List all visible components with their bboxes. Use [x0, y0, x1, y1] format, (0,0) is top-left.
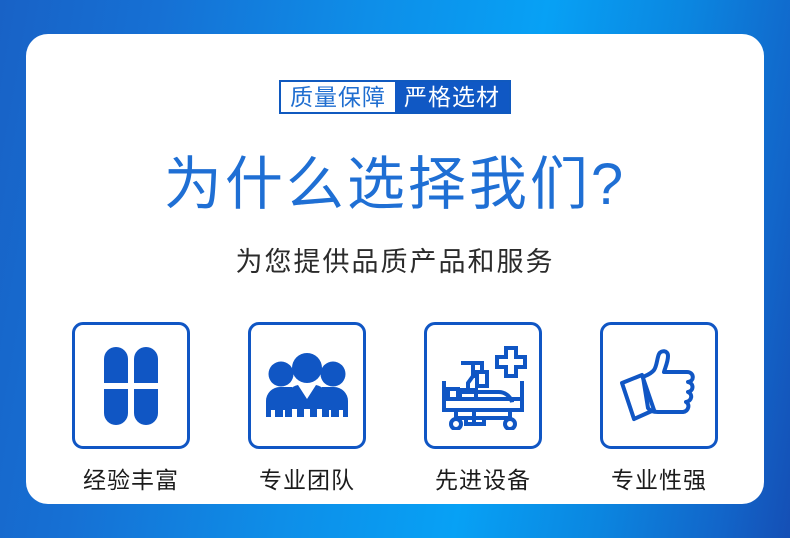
feature-item: 先进设备 — [418, 322, 548, 492]
thumbs-up-icon — [615, 344, 703, 428]
hospital-bed-with-iv-and-cross-icon — [436, 342, 530, 430]
badge-row: 质量保障 严格选材 — [26, 80, 764, 114]
badge-left-label: 质量保障 — [281, 82, 395, 112]
quality-badge: 质量保障 严格选材 — [279, 80, 511, 114]
feature-item: 专业性强 — [594, 322, 724, 492]
promo-banner: 质量保障 严格选材 为什么选择我们? 为您提供品质产品和服务 — [0, 0, 790, 538]
feature-item: 经验丰富 — [66, 322, 196, 492]
feature-list: 经验丰富 — [66, 322, 724, 492]
feature-label: 专业性强 — [611, 469, 707, 492]
feature-item: 专业团队 — [242, 322, 372, 492]
feature-icon-box — [248, 322, 366, 449]
badge-right-label: 严格选材 — [395, 82, 509, 112]
feature-icon-box — [424, 322, 542, 449]
feature-icon-box — [600, 322, 718, 449]
feature-icon-box — [72, 322, 190, 449]
white-card: 质量保障 严格选材 为什么选择我们? 为您提供品质产品和服务 — [26, 34, 764, 504]
page-title: 为什么选择我们? — [26, 156, 764, 214]
feature-label: 先进设备 — [435, 469, 531, 492]
four-petal-clover-icon — [91, 346, 171, 426]
feature-label: 专业团队 — [259, 469, 355, 492]
three-people-group-icon — [262, 349, 352, 423]
feature-label: 经验丰富 — [83, 469, 179, 492]
page-subtitle: 为您提供品质产品和服务 — [26, 249, 764, 276]
